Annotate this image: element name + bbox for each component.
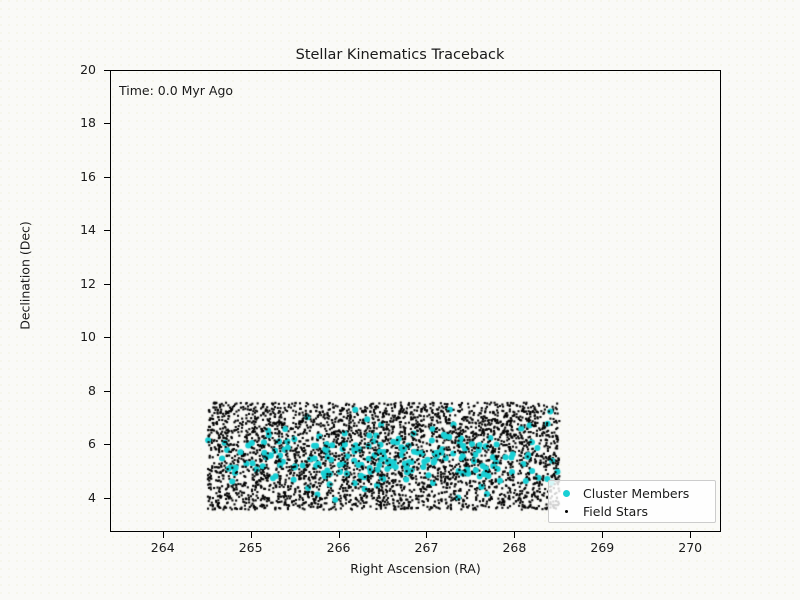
chart-title: Stellar Kinematics Traceback [0,47,800,63]
y-ticklabel-14: 14 [36,222,96,237]
x-tick-270 [690,532,691,538]
y-ticklabel-20: 20 [36,62,96,77]
y-tick-14 [104,230,110,231]
x-ticklabel-265: 265 [216,540,286,555]
y-tick-12 [104,284,110,285]
y-ticklabel-10: 10 [36,329,96,344]
x-ticklabel-264: 264 [128,540,198,555]
x-ticklabel-269: 269 [567,540,637,555]
x-ticklabel-268: 268 [479,540,549,555]
x-ticklabel-270: 270 [655,540,725,555]
legend-label-cluster-members: Cluster Members [583,486,689,501]
cluster-marker-icon [549,490,583,497]
legend-item-field-stars: Field Stars [549,502,715,520]
x-tick-267 [426,532,427,538]
x-ticklabel-266: 266 [304,540,374,555]
time-annotation: Time: 0.0 Myr Ago [119,83,233,98]
x-tick-265 [251,532,252,538]
legend-item-cluster-members: Cluster Members [549,484,715,502]
x-tick-264 [163,532,164,538]
plot-axes: Time: 0.0 Myr Ago [110,70,721,532]
y-ticklabel-18: 18 [36,115,96,130]
scatter-plot-canvas [111,71,722,533]
y-tick-10 [104,337,110,338]
y-ticklabel-4: 4 [36,490,96,505]
field-marker-icon [549,510,583,513]
y-ticklabel-6: 6 [36,436,96,451]
x-ticklabel-267: 267 [391,540,461,555]
x-tick-268 [514,532,515,538]
x-axis-label: Right Ascension (RA) [110,561,721,576]
legend[interactable]: Cluster Members Field Stars [548,480,716,523]
y-ticklabel-8: 8 [36,383,96,398]
y-tick-16 [104,177,110,178]
y-tick-4 [104,498,110,499]
x-tick-269 [602,532,603,538]
y-ticklabel-12: 12 [36,276,96,291]
y-tick-18 [104,123,110,124]
y-tick-6 [104,444,110,445]
matplotlib-figure: Stellar Kinematics Traceback Time: 0.0 M… [0,0,800,600]
legend-label-field-stars: Field Stars [583,504,648,519]
x-tick-266 [339,532,340,538]
y-tick-20 [104,70,110,71]
y-tick-8 [104,391,110,392]
y-ticklabel-16: 16 [36,169,96,184]
y-axis-label: Declination (Dec) [18,196,33,356]
